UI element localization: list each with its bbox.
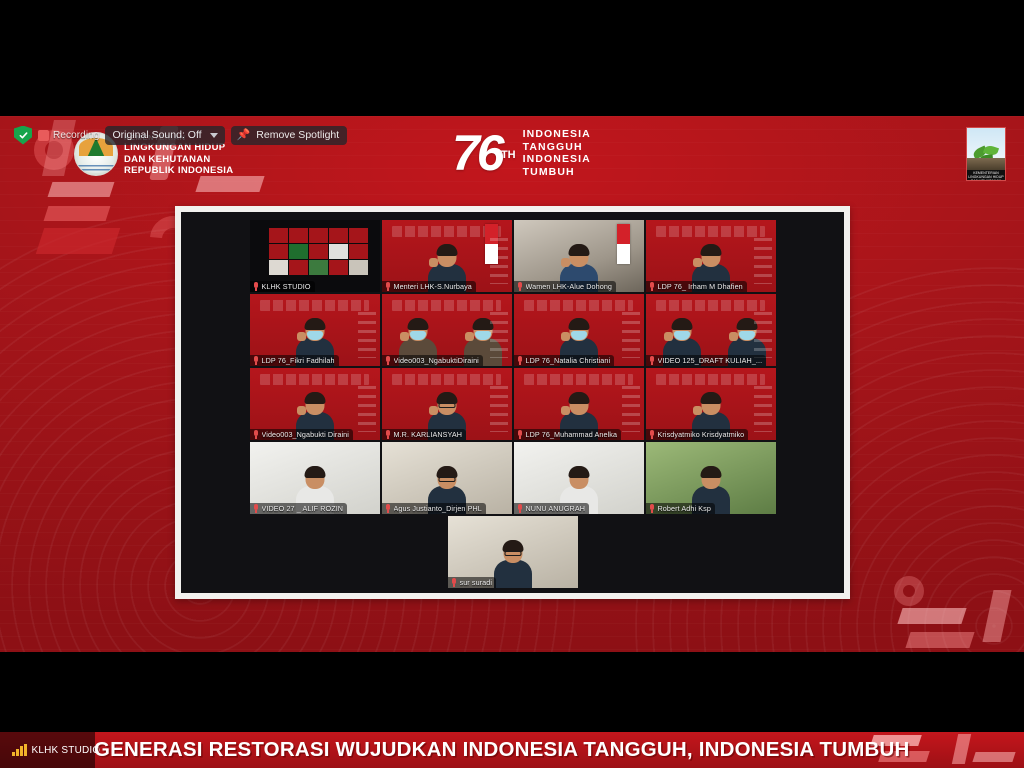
participant-tile[interactable]: KLHK STUDIO	[250, 220, 380, 292]
remove-spotlight-button[interactable]: 📌 Remove Spotlight	[231, 126, 348, 145]
participant-name: Video003_Ngabukti Diraini	[262, 430, 349, 439]
participant-name-bar: Robert Adhi Ksp	[646, 503, 715, 514]
right-badge-caption: KEMENTERIAN LINGKUNGAN HIDUP DAN KEHUTAN…	[967, 170, 1005, 181]
participant-tile[interactable]: LDP 76_Natalia Christiani	[514, 294, 644, 366]
participant-name-bar: Video003_Ngabukti Diraini	[250, 429, 353, 440]
participant-tile[interactable]: Wamen LHK-Alue Dohong	[514, 220, 644, 292]
participant-tile[interactable]: M.R. KARLIANSYAH	[382, 368, 512, 440]
indonesian-flag	[617, 224, 630, 264]
meeting-toolbar: Recording Original Sound: Off 📌 Remove S…	[14, 125, 347, 145]
anniversary-slogan: INDONESIA TANGGUH INDONESIA TUMBUH	[523, 128, 591, 178]
participant-name-bar: NUNU ANUGRAH	[514, 503, 590, 514]
mic-muted-icon	[517, 356, 523, 365]
nested-gallery-preview	[268, 227, 369, 276]
participant-name-bar: LDP 76_Muhammad Anelka	[514, 429, 622, 440]
signal-bars-icon	[12, 745, 27, 756]
ticker-decor-3	[952, 734, 971, 764]
mic-muted-icon	[649, 356, 655, 365]
participant-tile[interactable]: Video003_Ngabukti Diraini	[250, 368, 380, 440]
video-stage: Recording Original Sound: Off 📌 Remove S…	[0, 116, 1024, 652]
participant-name-bar: Video003_NgabuktiDiraini	[382, 355, 483, 366]
participant-name-bar: Wamen LHK-Alue Dohong	[514, 281, 617, 292]
mic-muted-icon	[385, 356, 391, 365]
mic-muted-icon	[253, 430, 259, 439]
anniversary-number: 76 TH	[452, 129, 502, 177]
gallery-row: sur suradi	[448, 516, 578, 588]
participant-tile[interactable]: LDP 76_Fikri Fadhilah	[250, 294, 380, 366]
participant-name-bar: VIDEO 27 _ ALIF ROZIN	[250, 503, 348, 514]
participant-name: sur suradi	[460, 578, 493, 587]
participant-name: KLHK STUDIO	[262, 282, 311, 291]
mic-muted-icon	[649, 504, 655, 513]
participant-name: LDP 76_Muhammad Anelka	[526, 430, 618, 439]
indonesian-flag	[485, 224, 498, 264]
lower-third-ticker: KLHK STUDIO GENERASI RESTORASI WUJUDKAN …	[0, 732, 1024, 768]
anniversary-logo: 76 TH INDONESIA TANGGUH INDONESIA TUMBUH	[452, 128, 591, 178]
gallery-row: KLHK STUDIOMenteri LHK-S.NurbayaWamen LH…	[250, 220, 776, 292]
gallery-row: VIDEO 27 _ ALIF ROZINAgus Justianto_Dirj…	[250, 442, 776, 514]
participant-tile[interactable]: Menteri LHK-S.Nurbaya	[382, 220, 512, 292]
participant-name-bar: sur suradi	[448, 577, 497, 588]
ticker-decor-4	[972, 752, 1015, 762]
participant-tile[interactable]: Robert Adhi Ksp	[646, 442, 776, 514]
mic-muted-icon	[385, 430, 391, 439]
participant-name: Video003_NgabuktiDiraini	[394, 356, 479, 365]
participant-name: LDP 76_ Irham M Dhafien	[658, 282, 743, 291]
mic-muted-icon	[451, 578, 457, 587]
participant-name: Krisdyatmiko Krisdyatmiko	[658, 430, 745, 439]
sprout-leaf-icon: KEMENTERIAN LINGKUNGAN HIDUP DAN KEHUTAN…	[966, 127, 1006, 181]
participant-figure	[493, 542, 533, 588]
participant-name-bar: LDP 76_ Irham M Dhafien	[646, 281, 747, 292]
participant-tile[interactable]: Agus Justianto_Dirjen PHL	[382, 442, 512, 514]
remove-spotlight-label: Remove Spotlight	[256, 129, 339, 141]
participant-tile[interactable]: LDP 76_ Irham M Dhafien	[646, 220, 776, 292]
shared-screen-frame: KLHK STUDIOMenteri LHK-S.NurbayaWamen LH…	[175, 206, 850, 599]
ticker-headline: GENERASI RESTORASI WUJUDKAN INDONESIA TA…	[94, 738, 910, 762]
participant-name-bar: VIDEO 125_DRAFT KULIAH_...	[646, 355, 767, 366]
audio-profile-label: Original Sound: Off	[112, 129, 201, 141]
audio-profile-select[interactable]: Original Sound: Off	[105, 126, 224, 145]
anniversary-line-3: INDONESIA	[523, 153, 591, 166]
recording-indicator[interactable]: Recording	[38, 130, 99, 141]
recording-label: Recording	[53, 130, 99, 141]
mic-muted-icon	[253, 282, 259, 291]
mic-muted-icon	[517, 430, 523, 439]
pin-icon: 📌	[237, 130, 251, 141]
recording-indicator-icon	[38, 130, 49, 141]
anniversary-line-1: INDONESIA	[523, 128, 591, 141]
ministry-line-3: DAN KEHUTANAN	[124, 154, 233, 166]
participant-name: M.R. KARLIANSYAH	[394, 430, 463, 439]
mic-muted-icon	[253, 504, 259, 513]
participant-name-bar: LDP 76_Natalia Christiani	[514, 355, 615, 366]
screen-root: Recording Original Sound: Off 📌 Remove S…	[0, 0, 1024, 768]
mic-muted-icon	[385, 282, 391, 291]
gallery-row: LDP 76_Fikri FadhilahVideo003_NgabuktiDi…	[250, 294, 776, 366]
mic-muted-icon	[253, 356, 259, 365]
mic-muted-icon	[385, 504, 391, 513]
participant-tile[interactable]: Krisdyatmiko Krisdyatmiko	[646, 368, 776, 440]
mic-muted-icon	[649, 430, 655, 439]
mic-muted-icon	[649, 282, 655, 291]
participant-name: LDP 76_Natalia Christiani	[526, 356, 611, 365]
participant-name: VIDEO 27 _ ALIF ROZIN	[262, 504, 344, 513]
anniversary-ordinal: TH	[501, 131, 516, 179]
studio-label: KLHK STUDIO	[32, 745, 101, 756]
participant-name: Agus Justianto_Dirjen PHL	[394, 504, 482, 513]
anniversary-line-2: TANGGUH	[523, 141, 591, 154]
participant-name: Menteri LHK-S.Nurbaya	[394, 282, 472, 291]
studio-badge: KLHK STUDIO	[0, 745, 95, 756]
participant-tile[interactable]: sur suradi	[448, 516, 578, 588]
participant-name-bar: LDP 76_Fikri Fadhilah	[250, 355, 339, 366]
participant-name-bar: Agus Justianto_Dirjen PHL	[382, 503, 486, 514]
anniversary-line-4: TUMBUH	[523, 166, 591, 179]
participant-tile[interactable]: VIDEO 125_DRAFT KULIAH_...	[646, 294, 776, 366]
participant-name-bar: M.R. KARLIANSYAH	[382, 429, 467, 440]
ministry-line-4: REPUBLIK INDONESIA	[124, 165, 233, 177]
chevron-down-icon[interactable]	[210, 133, 218, 138]
participant-tile[interactable]: VIDEO 27 _ ALIF ROZIN	[250, 442, 380, 514]
participant-name: VIDEO 125_DRAFT KULIAH_...	[658, 356, 763, 365]
participant-name: LDP 76_Fikri Fadhilah	[262, 356, 335, 365]
gallery-row: Video003_Ngabukti DirainiM.R. KARLIANSYA…	[250, 368, 776, 440]
encryption-shield-icon[interactable]	[14, 126, 32, 145]
participant-name-bar: KLHK STUDIO	[250, 281, 315, 292]
participant-name: Robert Adhi Ksp	[658, 504, 711, 513]
participant-tile[interactable]: Video003_NgabuktiDiraini	[382, 294, 512, 366]
mic-muted-icon	[517, 282, 523, 291]
participant-tile[interactable]: LDP 76_Muhammad Anelka	[514, 368, 644, 440]
mic-muted-icon	[517, 504, 523, 513]
anniversary-number-value: 76	[452, 125, 502, 181]
participant-name: Wamen LHK-Alue Dohong	[526, 282, 613, 291]
participant-name-bar: Krisdyatmiko Krisdyatmiko	[646, 429, 749, 440]
participant-name: NUNU ANUGRAH	[526, 504, 586, 513]
participant-tile[interactable]: NUNU ANUGRAH	[514, 442, 644, 514]
participant-gallery: KLHK STUDIOMenteri LHK-S.NurbayaWamen LH…	[181, 212, 844, 593]
participant-name-bar: Menteri LHK-S.Nurbaya	[382, 281, 476, 292]
